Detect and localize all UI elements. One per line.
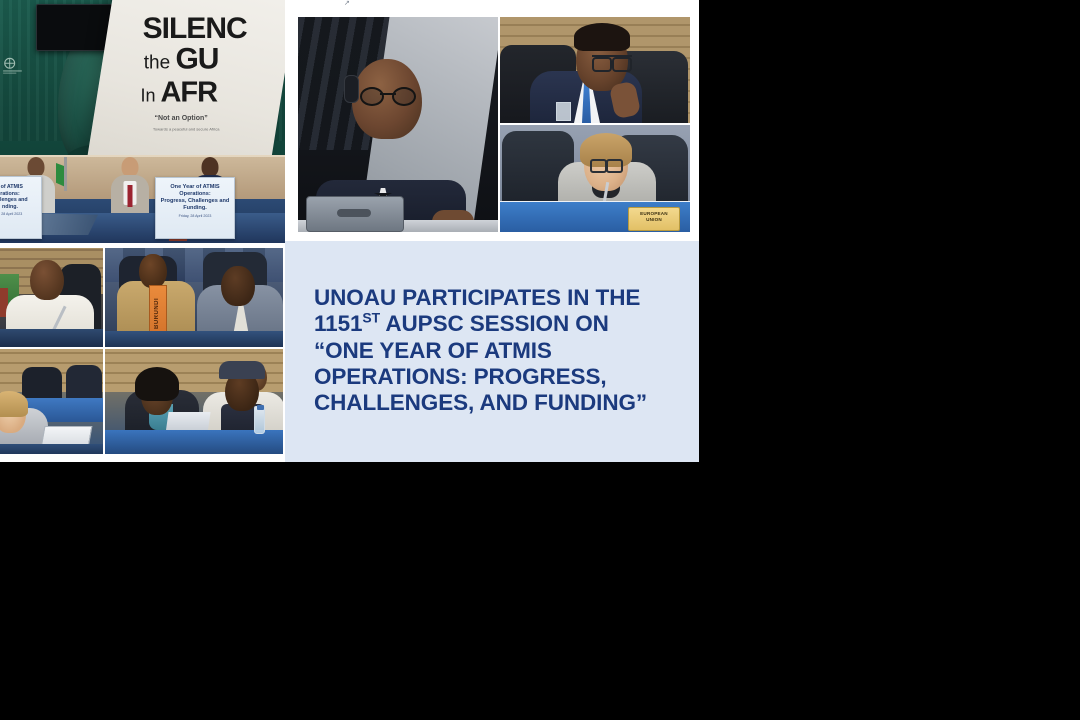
headline-line-1: UNOAU PARTICIPATES IN THE [314,285,682,311]
flag-pole [64,157,67,191]
session-placard-left: r of ATMIS rations: hallenges and nding.… [0,176,42,239]
delegate-glasses [360,87,416,102]
placard-left-date: y, 28 April 2023 [0,212,41,216]
european-union-nameplate: EUROPEAN UNION [628,207,680,231]
placard-right-line-1: One Year of ATMIS [156,184,234,191]
photo-delegate-with-laptop [0,349,103,456]
water-glass [556,102,571,121]
au-conference-hall-photo: SILENC the GU In AFR “Not an Option” Tow… [0,0,285,243]
desk-front [105,331,285,347]
delegate-right-head [221,266,255,306]
placard-left-line-2: rations: [0,191,41,198]
photo-delegate-with-headphones [298,17,498,232]
gap-fill-upper [0,243,285,248]
headline-line-2: 1151ST AUPSC SESSION ON [314,311,682,337]
session-participants-grid: BURUNDI [0,248,283,454]
nameplate-line-2: UNION [629,217,679,223]
headline-ordinal-suffix: ST [362,310,380,326]
aupsc-session-collage: EUROPEAN UNION [298,17,688,230]
headline-line-5: CHALLENGES, AND FUNDING” [314,390,682,416]
person-head [28,157,45,177]
placard-right-line-3: Progress, Challenges and [156,198,234,205]
placard-left-line-4: nding. [0,204,41,211]
headphone-icon [344,75,359,103]
delegate-man-cap [219,361,265,379]
headline-line-4: OPERATIONS: PROGRESS, [314,364,682,390]
photo-participant-white-robe [0,248,103,347]
delegate-hair [0,391,28,417]
gap-fill-lower [0,454,285,462]
au-logo-icon [2,56,24,76]
collage-panel: ↗ [285,0,699,241]
seated-person-center [110,157,150,213]
delegate-left-head [139,254,167,288]
speaker-hair [574,23,630,51]
headline-session-number: 1151 [314,311,362,336]
banner-line-1: SILENC [143,12,247,46]
banner-line-3-big: AFR [160,77,217,109]
headline-panel: UNOAU PARTICIPATES IN THE 1151ST AUPSC S… [285,241,699,462]
headline-line-2-rest: AUPSC SESSION ON [380,311,609,336]
placard-left-line-1: r of ATMIS [0,184,41,191]
water-bottle-cap [257,405,264,410]
canvas-right-margin [699,0,1080,462]
banner-tagline: “Not an Option” [154,115,207,122]
photo-delegates-at-blue-desk [105,349,285,456]
banner-line-3: In AFR [140,77,217,110]
person-tie [128,185,133,207]
desk-front [0,329,103,347]
desk-console-unit [306,196,404,232]
person-head [122,157,139,177]
grid-right-fill [283,248,285,454]
page-title: UNOAU PARTICIPATES IN THE 1151ST AUPSC S… [314,285,682,417]
speaker-glasses [592,55,632,68]
photo-delegate-speaking [500,17,690,123]
banner-subtext: Towards a peaceful and secure Africa [153,126,223,131]
banner-line-2: the GU [144,42,219,76]
participant-head [30,260,64,300]
photo-two-delegates-seated: BURUNDI [105,248,285,347]
chair-left [22,367,62,401]
placard-left-line-3: hallenges and [0,197,41,204]
placard-right-line-2: Operations: [156,191,234,198]
water-bottle-icon [254,406,265,434]
chair-right [66,365,102,399]
canvas-bottom-margin [0,462,1080,720]
banner-line-2-small: the [144,52,170,73]
placard-right-date: Friday, 28 April 2023 [156,214,234,218]
delegate-glasses [590,159,623,169]
headline-line-3: “ONE YEAR OF ATMIS [314,338,682,364]
person-head [202,157,219,177]
session-placard-right: One Year of ATMIS Operations: Progress, … [155,177,235,239]
placard-right-line-4: Funding. [156,205,234,212]
banner-line-2-big: GU [175,42,218,75]
delegate-woman-hair [135,367,179,401]
photo-european-union-delegate: EUROPEAN UNION [500,125,690,232]
banner-line-3-small: In [140,86,155,106]
crop-mark-icon: ↗ [344,1,350,6]
page-root: SILENC the GU In AFR “Not an Option” Tow… [0,0,1080,720]
